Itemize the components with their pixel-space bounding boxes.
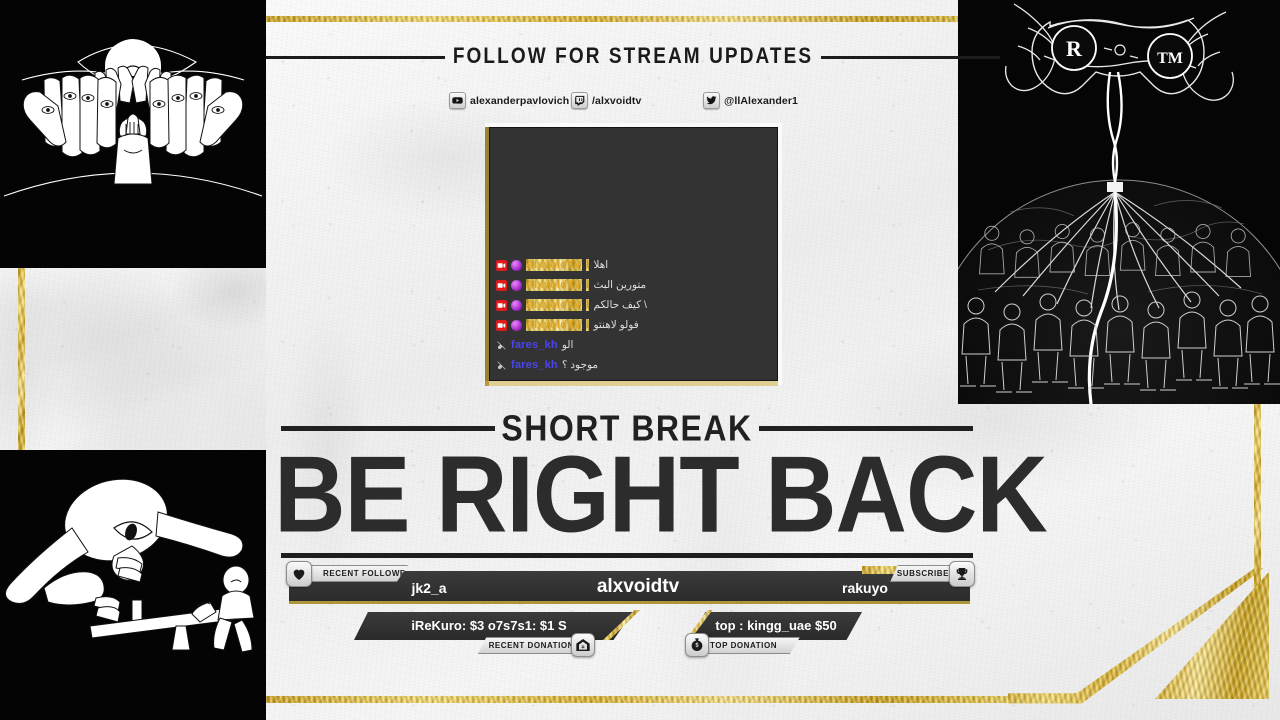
broadcaster-icon: [496, 300, 507, 311]
twitter-handle: @llAlexander1: [724, 95, 798, 107]
chat-colon: :: [586, 279, 590, 291]
follow-section-header: FOLLOW FOR STREAM UPDATES: [266, 44, 1000, 70]
social-link-twitter[interactable]: @llAlexander1: [703, 92, 798, 109]
chat-message: AlxvoidTV : متورين البث: [496, 275, 771, 295]
subscriber-icon: [511, 300, 522, 311]
broadcaster-icon: [496, 320, 507, 331]
money-house-icon: [575, 637, 591, 653]
stream-overlay-scene: R TM: [0, 0, 1280, 720]
kicker-rule-left: [281, 426, 495, 431]
gold-band-left-vertical: [18, 268, 25, 450]
chat-message: fares_kh الو: [496, 335, 771, 355]
top-donation-value: top : kingg_uae $50: [690, 618, 862, 633]
chat-username[interactable]: fares_kh: [511, 339, 558, 351]
artwork-top-right: R TM: [958, 0, 1280, 404]
top-donation-label: TOP DONATION: [710, 641, 777, 650]
subscriber-icon-button[interactable]: [949, 561, 975, 587]
heart-icon: [291, 566, 307, 582]
social-link-twitch[interactable]: /alxvoidtv: [571, 92, 641, 109]
brb-headline: BE RIGHT BACK: [274, 442, 980, 546]
recent-follower-icon-button[interactable]: [286, 561, 312, 587]
page-title: FOLLOW FOR STREAM UPDATES: [445, 44, 821, 70]
recent-donation-label: RECENT DONATION: [489, 641, 574, 650]
brb-bottom-rule: [281, 553, 973, 558]
chat-username[interactable]: AlxvoidTV: [526, 279, 582, 291]
chat-colon: :: [586, 299, 590, 311]
figure-seesaw-illustration: [0, 450, 266, 720]
artwork-top-left: [0, 0, 266, 268]
subscriber-value: rakuyo: [760, 580, 970, 596]
chat-text: اهلا: [593, 259, 608, 271]
chat-username[interactable]: AlxvoidTV: [526, 319, 582, 331]
gold-band-bottom: [266, 696, 1008, 703]
trophy-icon: [954, 566, 970, 582]
paper-background-left-mid: [0, 268, 266, 450]
brb-headline-block: SHORT BREAK BE RIGHT BACK: [281, 404, 973, 560]
gold-band-top: [266, 16, 1011, 22]
recent-donation-icon-button[interactable]: [571, 633, 595, 657]
controller-crowd-illustration: R TM: [958, 0, 1280, 404]
chat-text: موجود ؟: [562, 359, 598, 371]
chat-text: الو: [562, 339, 574, 351]
chat-message: fares_kh موجود ؟: [496, 355, 771, 375]
chat-username[interactable]: fares_kh: [511, 359, 558, 371]
header-rule-left: [266, 56, 445, 59]
chat-username[interactable]: AlxvoidTV: [526, 299, 582, 311]
gold-band-right-vertical: [1254, 404, 1261, 590]
twitch-icon: [571, 92, 588, 109]
moderator-icon: [496, 340, 507, 351]
kicker-rule-right: [759, 426, 973, 431]
top-donation-icon-button[interactable]: [685, 633, 709, 657]
youtube-icon: [449, 92, 466, 109]
recent-follower-label: RECENT FOLLOWER: [323, 569, 412, 578]
chat-message-list: AlxvoidTV : اهلا AlxvoidTV : متورين البث…: [490, 255, 777, 375]
recent-donation-value: iReKuro: $3 o7s7s1: $1 S: [354, 618, 624, 633]
moderator-icon: [496, 360, 507, 371]
chat-panel[interactable]: AlxvoidTV : اهلا AlxvoidTV : متورين البث…: [489, 127, 778, 381]
youtube-handle: alexanderpavlovich: [470, 95, 569, 107]
subscriber-label: SUBSCRIBE: [897, 569, 949, 578]
money-bag-icon: [689, 637, 705, 653]
top-donation-tab: TOP DONATION: [697, 637, 800, 654]
chat-text: \ كيف حالكم: [593, 299, 646, 311]
broadcaster-icon: [496, 260, 507, 271]
chat-text: متورين البث: [593, 279, 646, 291]
twitter-icon: [703, 92, 720, 109]
artwork-bottom-left: [0, 450, 266, 720]
header-rule-right: [821, 56, 1000, 59]
social-link-youtube[interactable]: alexanderpavlovich: [449, 92, 569, 109]
svg-text:TM: TM: [1157, 50, 1183, 67]
chat-colon: :: [586, 259, 590, 271]
subscriber-icon: [511, 280, 522, 291]
chat-colon: :: [586, 319, 590, 331]
hands-with-eyes-illustration: [0, 0, 266, 268]
subscriber-icon: [511, 260, 522, 271]
chat-message: AlxvoidTV : \ كيف حالكم: [496, 295, 771, 315]
chat-username[interactable]: AlxvoidTV: [526, 259, 582, 271]
twitch-handle: /alxvoidtv: [592, 95, 641, 107]
svg-text:R: R: [1066, 36, 1083, 61]
subscriber-icon: [511, 320, 522, 331]
channel-name: alxvoidtv: [494, 576, 782, 598]
chat-text: فولو لاهنتو: [593, 319, 638, 331]
recent-donation-tab: RECENT DONATION: [478, 637, 583, 654]
broadcaster-icon: [496, 280, 507, 291]
chat-message: AlxvoidTV : اهلا: [496, 255, 771, 275]
chat-message: AlxvoidTV : فولو لاهنتو: [496, 315, 771, 335]
